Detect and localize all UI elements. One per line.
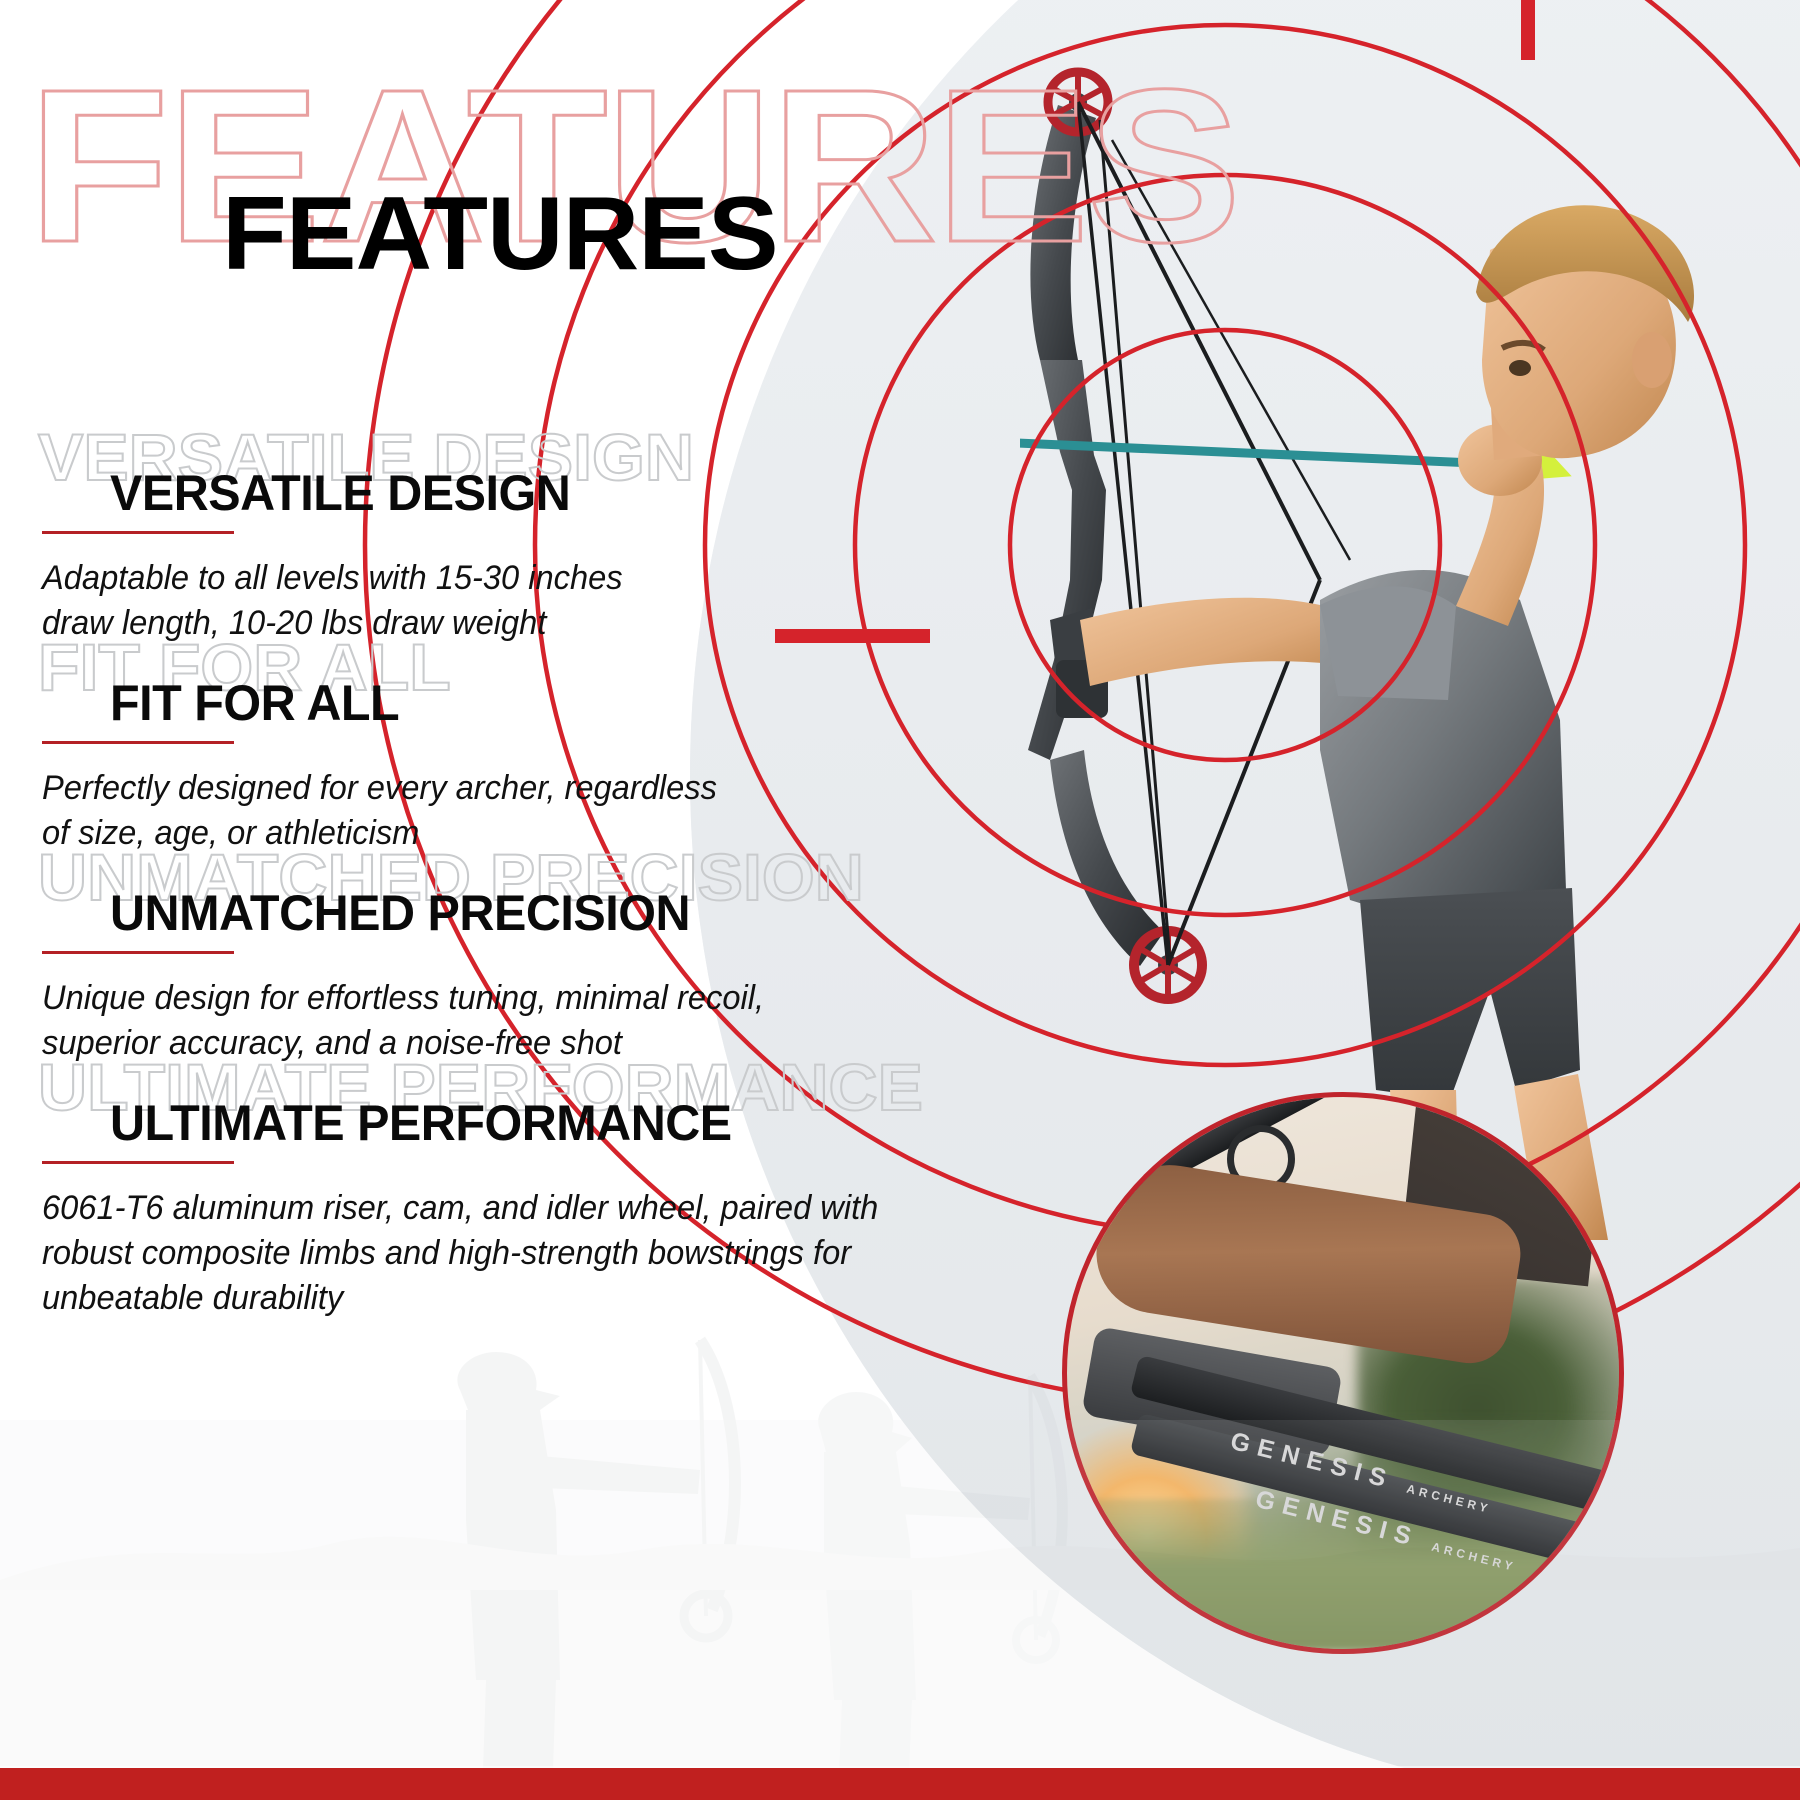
feature-underline-rule <box>42 531 234 534</box>
feature-underline-rule <box>42 741 234 744</box>
feature-underline-rule <box>42 951 234 954</box>
page-title: FEATURES <box>222 182 778 286</box>
infographic-canvas: GENESIS ARCHERY GENESIS ARCHERY <box>0 0 1800 1800</box>
feature-title: FIT FOR ALL <box>110 678 726 728</box>
feature-block-fit-for-all: FIT FOR ALL FIT FOR ALL Perfectly design… <box>42 678 745 856</box>
feature-description: 6061-T6 aluminum riser, cam, and idler w… <box>42 1186 878 1321</box>
feature-block-ultimate-performance: ULTIMATE PERFORMANCE ULTIMATE PERFORMANC… <box>42 1098 913 1321</box>
feature-title: ULTIMATE PERFORMANCE <box>110 1098 889 1148</box>
feature-block-versatile-design: VERSATILE DESIGN VERSATILE DESIGN Adapta… <box>42 468 647 646</box>
crosshair-tick-left <box>775 629 930 643</box>
bottom-accent-bar <box>0 1768 1800 1800</box>
background-archer-silhouettes <box>0 1280 1800 1800</box>
feature-title: VERSATILE DESIGN <box>110 468 631 518</box>
feature-title: UNMATCHED PRECISION <box>110 888 774 938</box>
feature-block-unmatched-precision: UNMATCHED PRECISION UNMATCHED PRECISION … <box>42 888 794 1066</box>
feature-underline-rule <box>42 1161 234 1164</box>
crosshair-tick-top <box>1521 0 1535 60</box>
